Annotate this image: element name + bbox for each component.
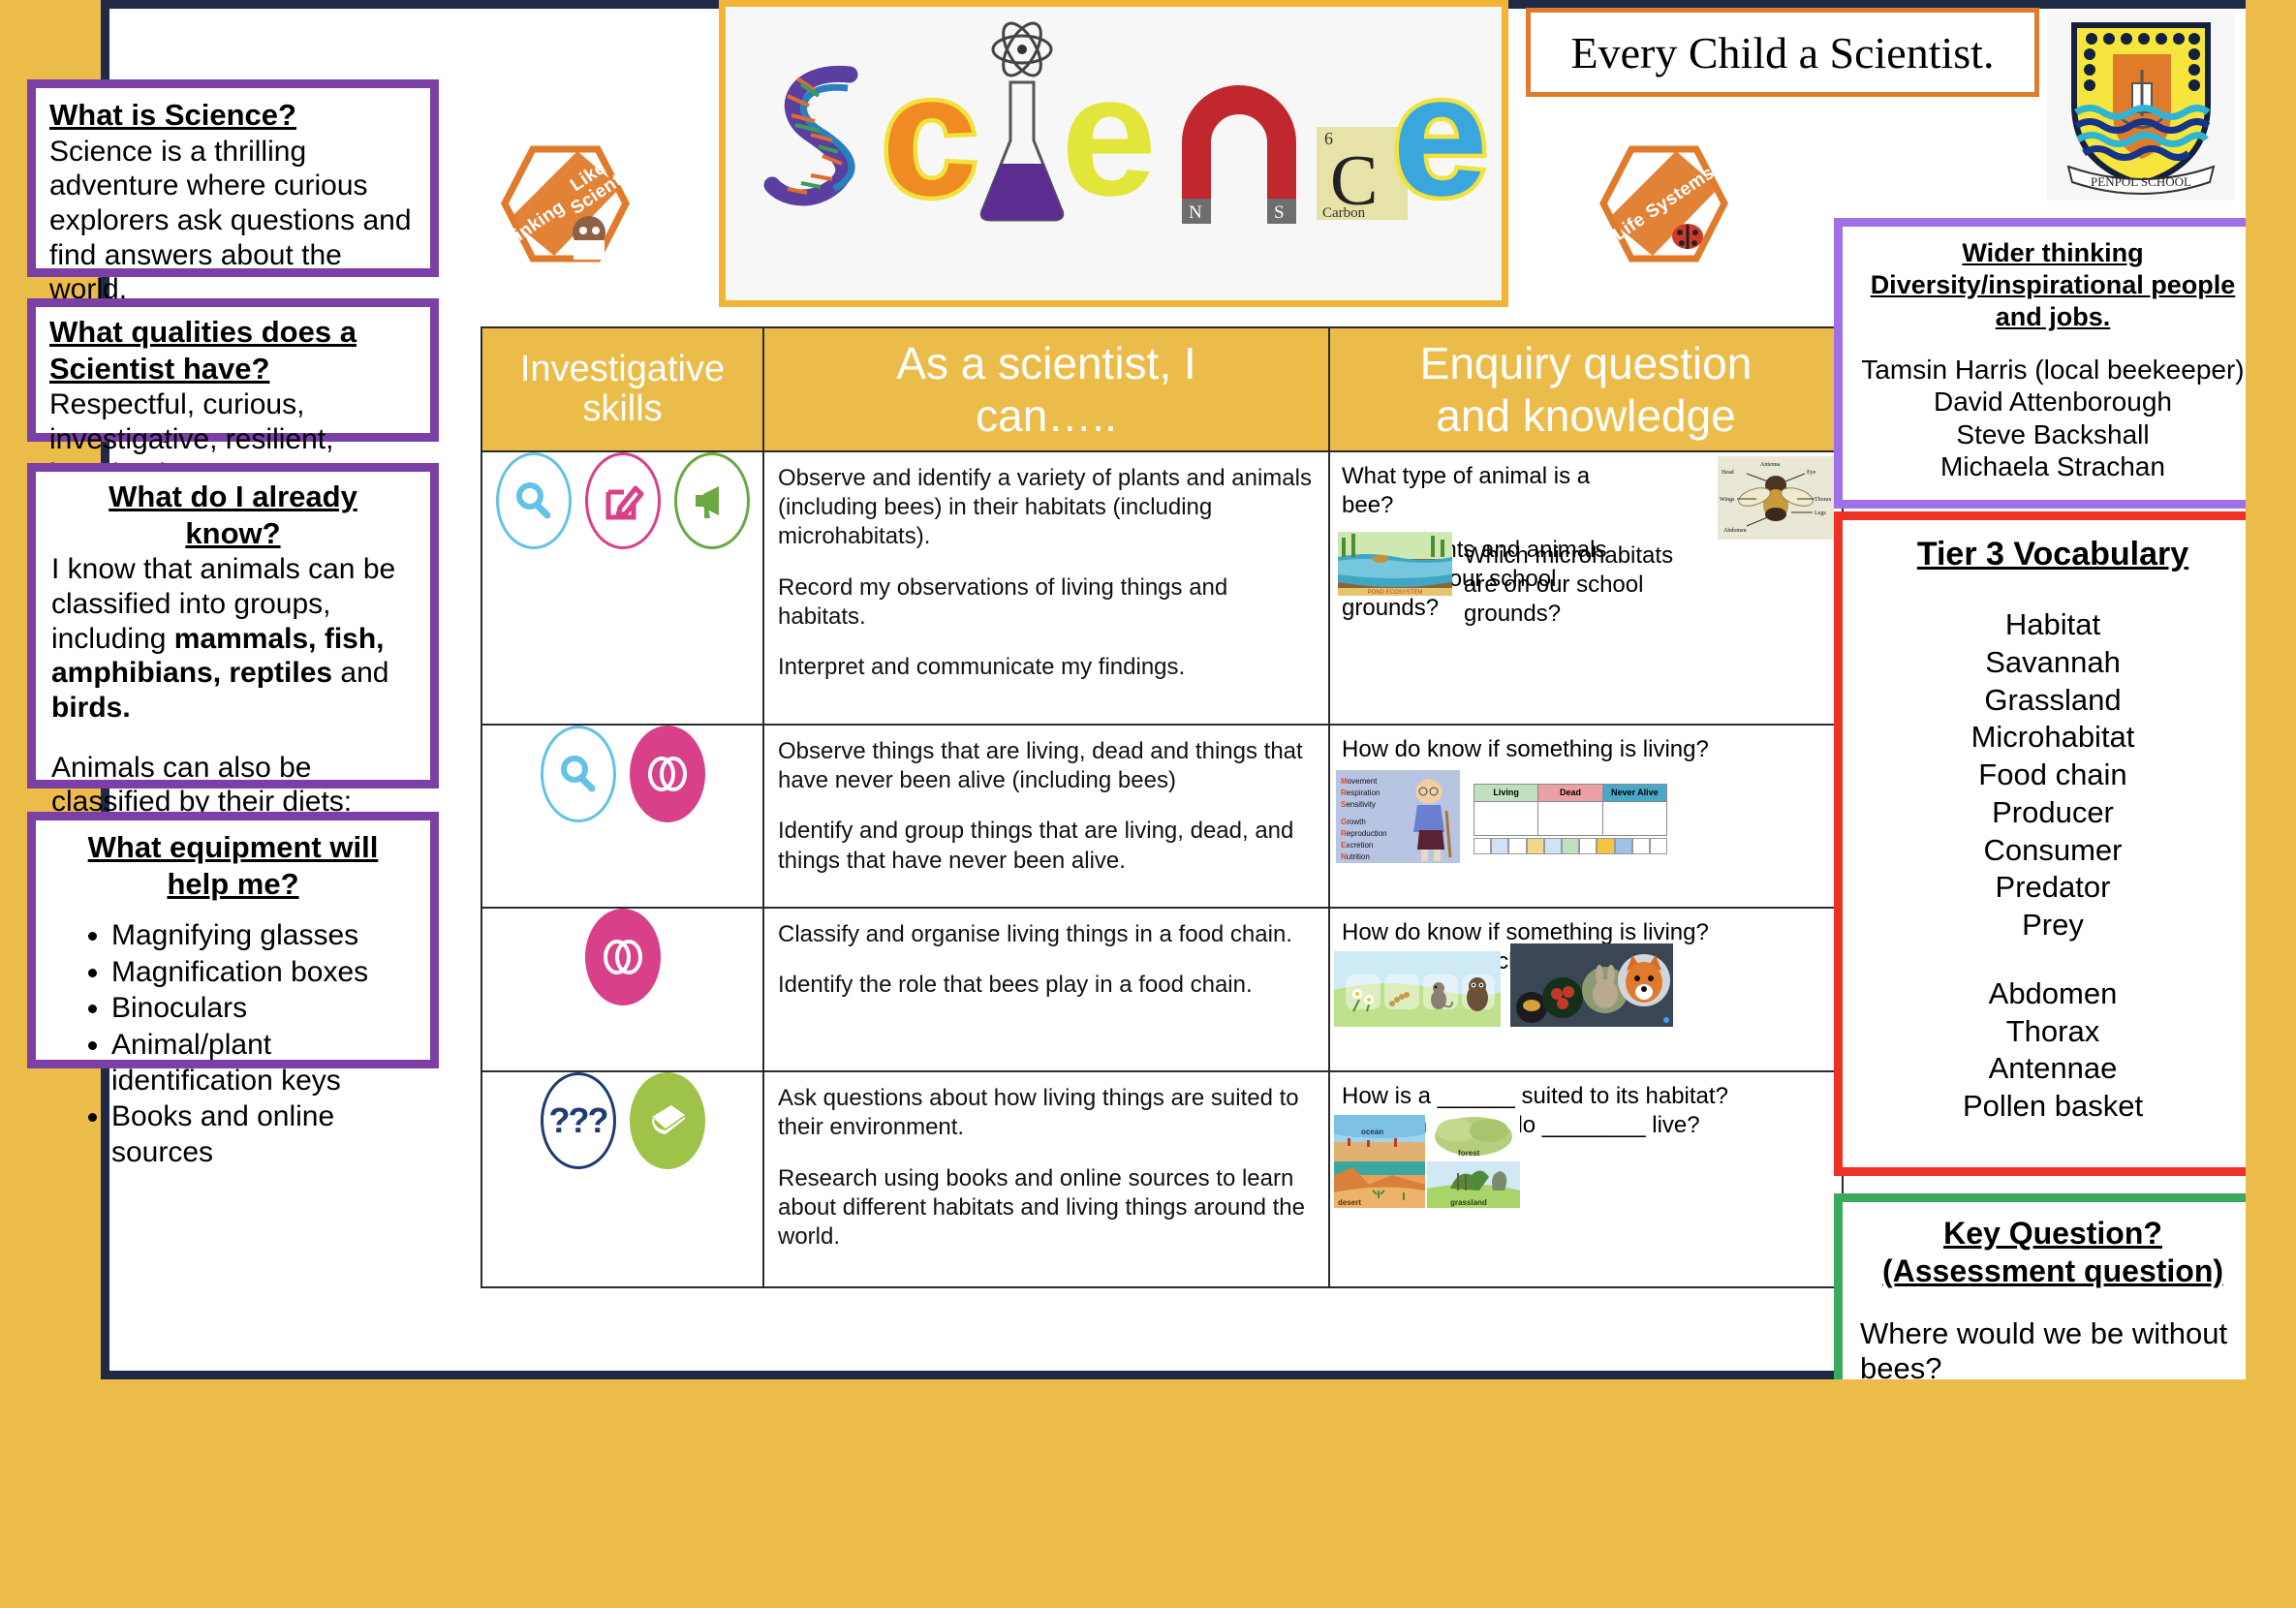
enquiry-question: How do know if something is living? [1342,735,1830,764]
can-do-item: Ask questions about how living things ar… [778,1084,1315,1142]
key-question-heading-line2: (Assessment question) [1860,1253,2246,1289]
qualities-heading-line2: Scientist have? [49,352,417,387]
table-row: ??? Ask questions about how living thing… [481,1071,1843,1287]
can-do-item: Identify the role that bees play in a fo… [778,971,1315,1000]
pond-ecosystem-image: POND ECOSYSTEM [1338,532,1452,596]
pond-caption: POND ECOSYSTEM [1368,590,1423,596]
vocabulary-word: Grassland [1856,682,2249,720]
row1-icons-cell [481,451,763,725]
svg-text:Thorax: Thorax [1815,497,1831,503]
badge-thinking-like-a-scientist: Thinking Like a Scientist [500,143,631,264]
can-do-item: Observe and identify a variety of plants… [778,464,1315,552]
p2-pre: Animals can also be classified by their … [51,752,352,819]
what-is-science-card: What is Science? Science is a thrilling … [27,79,439,277]
equipment-list: Magnifying glasses Magnification boxes B… [51,918,415,1170]
already-know-heading-line2: know? [51,516,415,551]
food-chain-illustration [1334,951,1501,1027]
school-crest: PENPOL SCHOOL [2047,12,2235,201]
inspirational-person: Michaela Strachan [1856,450,2249,482]
wider-thinking-card: Wider thinking Diversity/inspirational p… [1834,218,2272,509]
row2-enquiry-cell: How do know if something is living? Move… [1329,725,1843,908]
table-row: Classify and organise living things in a… [481,908,1843,1072]
can-do-item: Identify and group things that are livin… [778,817,1315,875]
svg-text:Nutrition: Nutrition [1341,852,1370,861]
question-marks-icon: ??? [541,1072,616,1169]
svg-text:Wings: Wings [1720,497,1735,503]
habitat-label-desert: desert [1338,1198,1361,1207]
sort-header-living: Living [1474,785,1537,801]
list-item: Animal/plant identification keys [111,1028,415,1098]
list-item: Binoculars [111,991,415,1027]
what-is-science-heading: What is Science? [49,98,417,133]
enquiry-question: Which microhabitats are on our school gr… [1464,541,1677,629]
magnifier-icon [541,726,616,822]
svg-text:Movement: Movement [1341,777,1378,786]
what-is-science-p1: Science is a thrilling adventure where c… [49,135,417,307]
can-do-item: Classify and organise living things in a… [778,920,1315,949]
vocabulary-word: Food chain [1856,757,2249,794]
scientist-qualities-card: What qualities does a Scientist have? Re… [27,298,439,442]
can-do-item: Record my observations of living things … [778,573,1315,632]
row3-icons-cell [481,908,763,1072]
enquiry-question: What type of animal is a bee? [1342,462,1632,520]
svg-text:Abdomen: Abdomen [1723,528,1747,534]
can-do-item: Interpret and communicate my findings. [778,653,1315,682]
p1-mid: and [332,657,388,689]
vocabulary-word: Abdomen [1856,975,2249,1013]
list-item: Books and online sources [111,1099,415,1170]
tagline-text: Every Child a Scientist. [1571,27,1995,78]
svg-text:Eye: Eye [1807,470,1816,476]
header-line2: skills [488,389,757,429]
tagline-banner: Every Child a Scientist. [1526,8,2039,97]
habitat-label-forest: forest [1458,1149,1480,1158]
key-question-heading-line1: Key Question? [1860,1216,2246,1252]
svg-text:N: N [1189,202,1202,223]
tier3-heading: Tier 3 Vocabulary [1856,536,2249,573]
equipment-card: What equipment will help me? Magnifying … [27,812,439,1068]
mrs-gren-image: Movement Respiration Sensitivity Growth … [1336,770,1460,863]
wider-thinking-heading-line1: Wider thinking [1856,238,2249,268]
sort-header-never-alive: Never Alive [1602,785,1666,801]
inspirational-person: Steve Backshall [1856,418,2249,450]
vocabulary-word: Savannah [1856,644,2249,682]
venn-classify-icon [630,726,705,822]
sortable-picture-cards [1474,838,1667,854]
badge-line1: Life [1610,209,1649,244]
tier3-vocabulary-card: Tier 3 Vocabulary Habitat Savannah Grass… [1834,511,2272,1176]
column-header-investigative-skills: Investigative skills [481,327,763,451]
equipment-heading-line2: help me? [51,867,415,902]
row2-can-do-cell: Observe things that are living, dead and… [763,725,1329,908]
living-dead-sort-table: Living Dead Never Alive [1474,784,1667,854]
wider-thinking-heading-line3: and jobs. [1856,302,2249,332]
badge-life-systems: Life Systems [1598,143,1729,264]
svg-text:Carbon: Carbon [1322,205,1366,221]
svg-text:e: e [1061,39,1157,232]
table-row: Observe and identify a variety of plants… [481,451,1843,725]
row4-icons-cell: ??? [481,1071,763,1287]
header-line1: Investigative [488,350,757,389]
svg-text:c: c [882,39,977,232]
venn-classify-icon [585,909,661,1005]
bee-berries-rabbit-fox-image [1510,943,1673,1027]
row4-can-do-cell: Ask questions about how living things ar… [763,1071,1329,1287]
habitat-label-ocean: ocean [1361,1128,1383,1136]
can-do-item: Research using books and online sources … [778,1164,1315,1252]
vocabulary-word: Pollen basket [1856,1088,2249,1126]
megaphone-icon [674,452,750,549]
magnifier-icon [496,452,572,549]
sort-header-dead: Dead [1537,785,1601,801]
list-item: Magnifying glasses [111,918,415,954]
svg-text:S: S [1274,202,1285,223]
svg-text:Reproduction: Reproduction [1341,829,1387,838]
list-item: Magnification boxes [111,955,415,991]
school-name-text: PENPOL SCHOOL [2091,174,2191,189]
svg-text:Antenna: Antenna [1760,462,1781,468]
vocabulary-word: Habitat [1856,606,2249,644]
row1-can-do-cell: Observe and identify a variety of plants… [763,451,1329,725]
equipment-heading-line1: What equipment will [51,830,415,865]
badge-line2: Systems [1642,163,1718,222]
vocabulary-word: Producer [1856,794,2249,832]
habitats-image: ocean forest [1334,1115,1520,1208]
science-wordmark: c e N S 6 [726,7,1502,300]
already-know-heading-line1: What do I already [51,479,415,514]
bee-anatomy-image: HeadAntennaEye WingsThoraxLegs Abdomen [1718,456,1834,540]
vocabulary-word: Consumer [1856,832,2249,870]
wider-thinking-heading-line2: Diversity/inspirational people [1856,270,2249,300]
svg-text:Legs: Legs [1815,510,1826,516]
vocabulary-word: Prey [1856,907,2249,944]
vocabulary-word: Predator [1856,869,2249,907]
p1-bold2: birds. [51,692,131,724]
pencil-edit-icon [585,452,661,549]
investigative-skills-table: Investigative skills As a scientist, I c… [481,326,1844,1288]
science-logo-frame: c e N S 6 [719,0,1508,307]
column-header-enquiry-question: Enquiry question and knowledge [1329,327,1843,451]
header-line2: and knowledge [1336,389,1836,442]
svg-text:Sensitivity: Sensitivity [1341,800,1376,809]
already-know-p1: I know that animals can be classified in… [51,552,415,725]
qualities-heading-line1: What qualities does a [49,315,417,350]
vocabulary-word: Thorax [1856,1013,2249,1051]
header-line2: can….. [770,389,1322,442]
row3-can-do-cell: Classify and organise living things in a… [763,908,1329,1072]
vocabulary-word: Antennae [1856,1050,2249,1088]
page-margin-right [2246,0,2296,1608]
svg-text:Growth: Growth [1341,818,1366,826]
inspirational-person: Tamsin Harris (local beekeeper) [1856,354,2249,386]
header-line1: As a scientist, I [770,337,1322,389]
inspirational-person: David Attenborough [1856,386,2249,417]
svg-text:Respiration: Respiration [1341,789,1380,797]
table-header-row: Investigative skills As a scientist, I c… [481,327,1843,451]
table-row: Observe things that are living, dead and… [481,725,1843,908]
svg-text:e: e [1392,39,1487,232]
header-line1: Enquiry question [1336,337,1836,389]
row1-enquiry-cell: What type of animal is a bee? Which plan… [1329,451,1843,725]
row2-icons-cell [481,725,763,908]
column-header-as-a-scientist: As a scientist, I can….. [763,327,1329,451]
svg-text:Excretion: Excretion [1341,841,1373,850]
habitat-label-grassland: grassland [1450,1198,1487,1207]
row3-enquiry-cell: How do know if something is living? What… [1329,908,1843,1072]
book-icon [630,1072,705,1169]
key-question-text: Where would we be without bees? [1860,1316,2246,1388]
science-wordmark-art: c e N S 6 [741,18,1487,290]
badge-line1: Thinking [492,198,569,258]
enquiry-question: How is a ______ suited to its habitat? [1342,1082,1830,1111]
school-crest-art: PENPOL SCHOOL [2047,12,2235,201]
svg-text:Head: Head [1722,470,1734,476]
row4-enquiry-cell: How is a ______ suited to its habitat? I… [1329,1071,1843,1287]
prior-knowledge-card: What do I already know? I know that anim… [27,463,439,789]
vocabulary-word: Microhabitat [1856,719,2249,757]
can-do-item: Observe things that are living, dead and… [778,737,1315,795]
page-margin-bottom [0,1379,2296,1608]
